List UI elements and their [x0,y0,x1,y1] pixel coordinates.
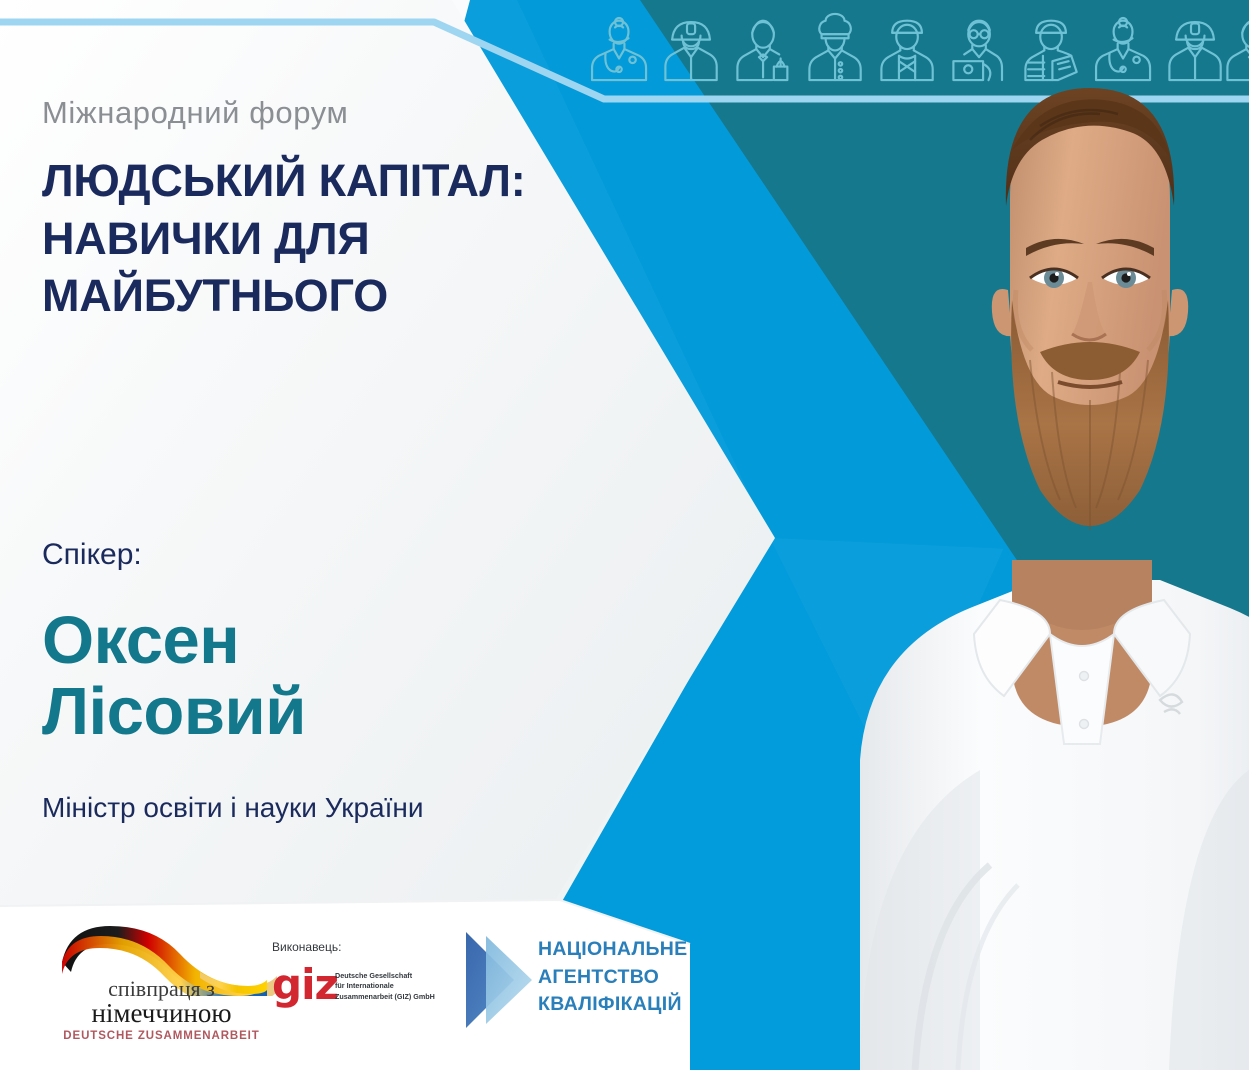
national-agency-words: НАЦІОНАЛЬНЕ АГЕНТСТВО КВАЛІФІКАЦІЙ [538,936,703,1019]
national-agency-line-3: КВАЛІФІКАЦІЙ [538,991,703,1019]
footer-logo-row: співпраця з німеччиною DEUTSCHE ZUSAMMEN… [0,900,760,1070]
event-announcement-poster: Міжнародний форум ЛЮДСЬКИЙ КАПІТАЛ: НАВИ… [0,0,1249,1070]
german-cooperation-line2: німеччиною [54,998,269,1029]
national-agency-logo: НАЦІОНАЛЬНЕ АГЕНТСТВО КВАЛІФІКАЦІЙ [460,918,700,1043]
national-agency-line-2: АГЕНТСТВО [538,964,703,992]
giz-caption: Виконавець: [272,940,341,954]
giz-logo: Виконавець: giz Deutsche Gesellschaft fü… [272,940,437,1030]
giz-subtitle-line-2: für Internationale [335,981,435,991]
giz-subtitle-line-1: Deutsche Gesellschaft [335,971,435,981]
german-cooperation-line3: DEUTSCHE ZUSAMMENARBEIT [54,1030,269,1042]
giz-subtitle: Deutsche Gesellschaft für Internationale… [335,971,435,1002]
giz-subtitle-line-3: Zusammenarbeit (GIZ) GmbH [335,992,435,1002]
national-agency-line-1: НАЦІОНАЛЬНЕ [538,936,703,964]
german-cooperation-logo: співпраця з німеччиною DEUTSCHE ZUSAMMEN… [40,918,280,1048]
giz-wordmark: giz [272,964,338,1006]
